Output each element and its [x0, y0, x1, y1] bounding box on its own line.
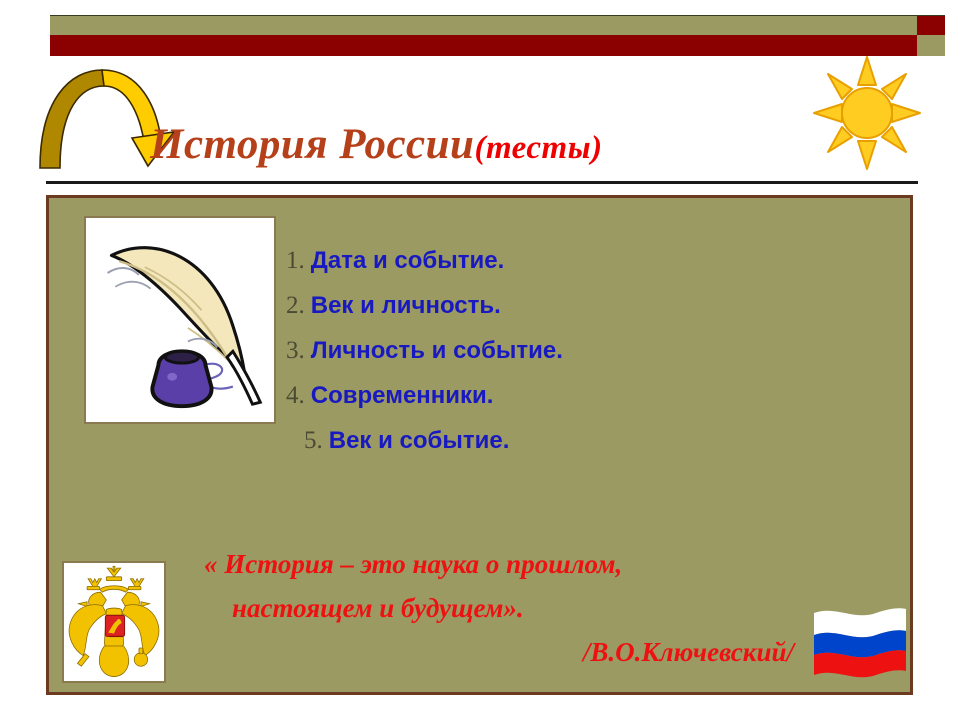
quote-line-2: настоящем и будущем».	[190, 586, 810, 630]
list-item-number: 4.	[286, 382, 305, 409]
russian-coat-of-arms-icon	[62, 561, 166, 683]
list-item-number: 1.	[286, 247, 305, 274]
topic-list: 1.Дата и событие. 2.Век и личность. 3.Ли…	[286, 238, 846, 463]
page-title: История России(тесты)	[150, 123, 810, 166]
list-item-label: Век и личность.	[311, 292, 501, 319]
title-divider	[46, 181, 918, 184]
list-item-number: 5.	[304, 427, 323, 454]
decorative-banner	[50, 15, 945, 56]
list-item-number: 2.	[286, 292, 305, 319]
list-item-label: Личность и событие.	[311, 337, 563, 364]
quote-author: /В.О.Ключевский/	[190, 630, 810, 674]
list-item-number: 3.	[286, 337, 305, 364]
slide-canvas: История России(тесты)	[0, 0, 960, 720]
list-item-label: Современники.	[311, 382, 494, 409]
list-item[interactable]: 1.Дата и событие.	[286, 238, 846, 283]
list-item[interactable]: 2.Век и личность.	[286, 283, 846, 328]
quill-pen-icon	[84, 216, 276, 424]
list-item[interactable]: 5.Век и событие.	[286, 418, 846, 463]
page-title-sub: (тесты)	[474, 130, 602, 166]
quote-block: « История – это наука о прошлом, настоящ…	[190, 542, 810, 674]
russian-flag-icon	[806, 601, 912, 679]
page-title-main: История России	[150, 121, 474, 168]
list-item-label: Дата и событие.	[311, 247, 505, 274]
list-item[interactable]: 4.Современники.	[286, 373, 846, 418]
list-item-label: Век и событие.	[329, 427, 510, 454]
sun-icon	[812, 55, 922, 170]
banner-edge-line	[50, 15, 945, 56]
list-item[interactable]: 3.Личность и событие.	[286, 328, 846, 373]
quote-line-1: « История – это наука о прошлом,	[190, 542, 810, 586]
